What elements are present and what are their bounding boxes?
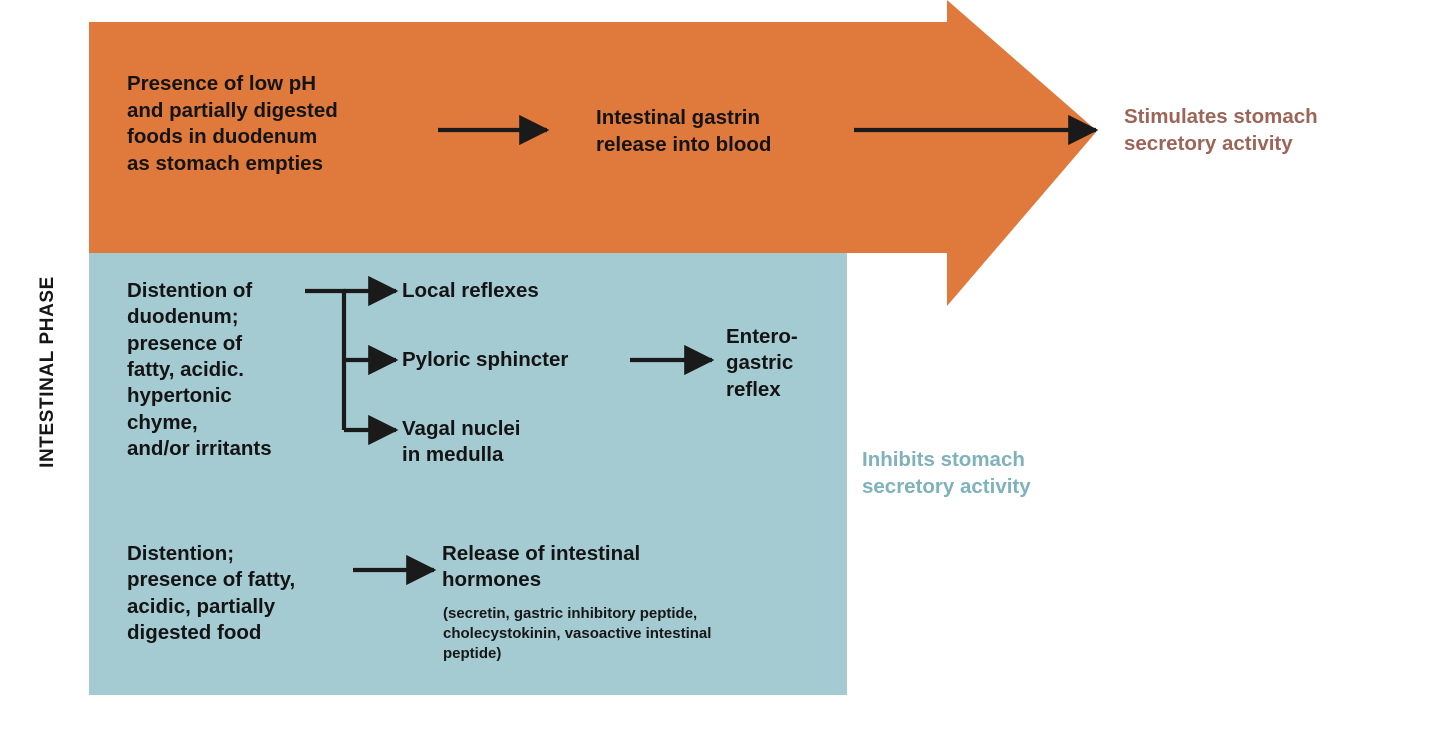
inhibitory-neural-trigger-text: Distention of duodenum; presence of fatt… <box>127 278 272 462</box>
hormone-release-text: Release of intestinal hormones <box>442 541 640 594</box>
inhibitory-hormonal-trigger-text: Distention; presence of fatty, acidic, p… <box>127 541 295 646</box>
stimulatory-trigger-text: Presence of low pH and partially digeste… <box>127 71 338 178</box>
branch-pyloric-sphincter-text: Pyloric sphincter <box>402 347 568 373</box>
enterogastric-reflex-text: Entero- gastric reflex <box>726 324 798 403</box>
branch-vagal-nuclei-text: Vagal nuclei in medulla <box>402 416 521 469</box>
hormone-list-text: (secretin, gastric inhibitory peptide, c… <box>443 604 711 664</box>
diagram-canvas: INTESTINAL PHASE Presence of low pH and … <box>0 0 1440 731</box>
intestinal-gastrin-text: Intestinal gastrin release into blood <box>596 105 771 158</box>
phase-label: INTESTINAL PHASE <box>36 242 60 502</box>
stimulates-stomach-outcome-text: Stimulates stomach secretory activity <box>1124 104 1318 157</box>
branch-local-reflexes-text: Local reflexes <box>402 278 539 304</box>
inhibits-stomach-outcome-text: Inhibits stomach secretory activity <box>862 447 1031 500</box>
